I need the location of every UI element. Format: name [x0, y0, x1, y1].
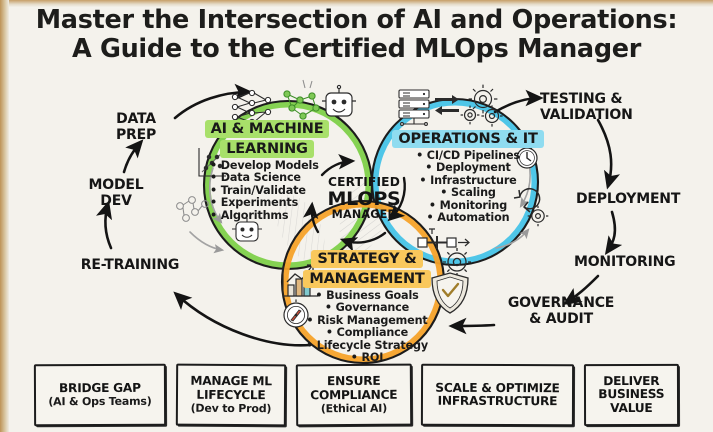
arrow-governance-to-strategy [452, 325, 494, 326]
arrow-deployment-to-monitoring [607, 212, 615, 252]
operations-it-bullet: • Deployment [392, 162, 544, 174]
stage-governance-line2: & AUDIT [494, 312, 628, 328]
hub-line-2: MLOPS [312, 189, 416, 209]
stage-testing-validation: TESTING & VALIDATION [540, 92, 690, 123]
stage-testing-line1: TESTING & [540, 92, 690, 108]
ai-ml-heading-line1: AI & MACHINE [205, 120, 330, 138]
center-hub-label: CERTIFIED MLOPS MANAGER [312, 176, 416, 221]
stage-model-dev: MODEL DEV [76, 178, 156, 209]
stage-governance-line1: GOVERNANCE [494, 296, 628, 312]
page-title: Master the Intersection of AI and Operat… [0, 6, 713, 64]
stage-data-prep-line1: DATA [96, 112, 176, 128]
outcome-sub: (Dev to Prod) [190, 402, 271, 415]
outcome-box-manage-ml-lifecycle[interactable]: MANAGE ML LIFECYCLE (Dev to Prod) [176, 364, 286, 427]
stage-deployment-line1: DEPLOYMENT [576, 192, 696, 208]
outcome-line2: INFRASTRUCTURE [438, 395, 558, 409]
arrow-retraining-to-modeldev [105, 204, 111, 248]
outcome-sub: (Ethical AI) [321, 402, 387, 415]
strategy-bullet: • Compliance [288, 327, 446, 339]
outcome-line2: LIFECYCLE [196, 388, 265, 402]
title-line-1: Master the Intersection of AI and Operat… [36, 5, 678, 35]
strategy-heading-line2: MANAGEMENT [303, 270, 430, 288]
outcome-line2: BUSINESS [599, 388, 665, 402]
arrow-testing-to-deployment [598, 120, 611, 186]
stage-testing-line2: VALIDATION [540, 108, 690, 124]
stage-data-prep: DATA PREP [96, 112, 176, 143]
ai-ml-heading-line2: LEARNING [220, 140, 314, 158]
stage-deployment: DEPLOYMENT [576, 192, 696, 208]
title-line-2: A Guide to the Certified MLOps Manager [0, 35, 713, 64]
arrow-ops-to-testing [495, 98, 540, 112]
outcome-sub: (AI & Ops Teams) [48, 395, 151, 408]
operations-it-heading: OPERATIONS & IT [392, 130, 543, 148]
strategy-bullet: • ROI [288, 352, 446, 364]
whiteboard-canvas: Master the Intersection of AI and Operat… [0, 0, 713, 432]
outcome-line2: COMPLIANCE [310, 388, 397, 402]
outcome-line1: MANAGE ML [190, 375, 272, 389]
hub-line-3: MANAGER [312, 209, 416, 221]
stage-governance-audit: GOVERNANCE & AUDIT [494, 296, 628, 327]
outcome-box-row: BRIDGE GAP (AI & Ops Teams) MANAGE ML LI… [0, 364, 713, 426]
stage-re-training: RE-TRAINING [68, 258, 192, 274]
outcome-line1: BRIDGE GAP [59, 382, 141, 396]
stage-monitoring-line1: MONITORING [574, 255, 694, 271]
outcome-box-ensure-compliance[interactable]: ENSURE COMPLIANCE (Ethical AI) [296, 364, 412, 427]
stage-data-prep-line2: PREP [96, 128, 176, 144]
stage-re-training-line1: RE-TRAINING [68, 258, 192, 274]
stage-model-dev-line2: DEV [76, 194, 156, 210]
stage-monitoring: MONITORING [574, 255, 694, 271]
arrow-modeldev-to-dataprep [124, 142, 141, 172]
robot-icon [322, 85, 356, 116]
strategy-management-label-group: STRATEGY & MANAGEMENT • Business Goals •… [288, 248, 446, 364]
outcome-box-scale-optimize[interactable]: SCALE & OPTIMIZE INFRASTRUCTURE [421, 364, 574, 427]
strategy-bullet-list: • Business Goals • Governance • Risk Man… [288, 290, 446, 364]
outcome-box-deliver-value[interactable]: DELIVER BUSINESS VALUE [584, 364, 679, 426]
stage-model-dev-line1: MODEL [76, 178, 156, 194]
node-graph-icon [284, 80, 319, 119]
outcome-box-bridge-gap[interactable]: BRIDGE GAP (AI & Ops Teams) [34, 364, 166, 427]
outcome-line3: VALUE [611, 402, 653, 416]
outcome-line1: ENSURE [327, 375, 381, 389]
strategy-bullet: • Governance [288, 302, 446, 314]
strategy-heading-line1: STRATEGY & [311, 250, 422, 268]
